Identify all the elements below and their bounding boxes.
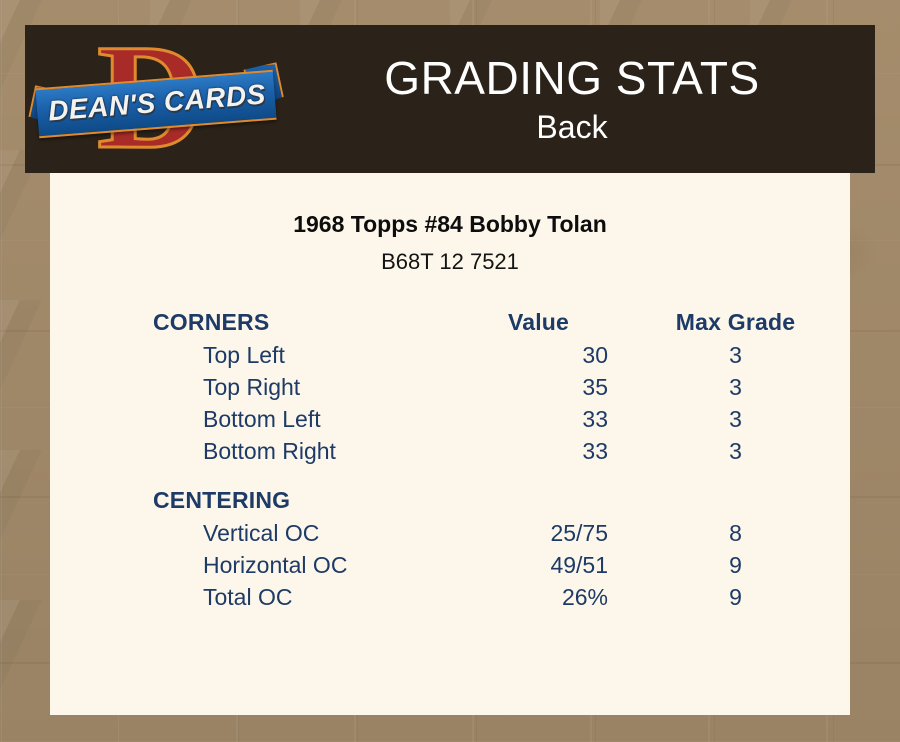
row-value: 30 (450, 339, 635, 371)
table-row: Bottom Left333 (50, 403, 850, 435)
column-header-value (450, 487, 635, 517)
row-value: 25/75 (450, 517, 635, 549)
row-value: 33 (450, 403, 635, 435)
row-max-grade: 9 (635, 581, 850, 613)
row-max-grade: 9 (635, 549, 850, 581)
row-value: 35 (450, 371, 635, 403)
section-header-row: CENTERING (50, 487, 850, 517)
table-row: Total OC26%9 (50, 581, 850, 613)
table-row: Top Right353 (50, 371, 850, 403)
table-spacer-cell (50, 467, 850, 487)
card-title: 1968 Topps #84 Bobby Tolan (50, 211, 850, 238)
row-label: Horizontal OC (50, 549, 450, 581)
row-label: Total OC (50, 581, 450, 613)
page-subtitle: Back (289, 107, 855, 147)
row-max-grade: 3 (635, 403, 850, 435)
deans-cards-logo: D DEAN'S CARDS (25, 25, 289, 173)
row-value: 26% (450, 581, 635, 613)
row-max-grade: 3 (635, 435, 850, 467)
row-label: Top Left (50, 339, 450, 371)
table-row: Horizontal OC49/519 (50, 549, 850, 581)
row-label: Bottom Right (50, 435, 450, 467)
row-max-grade: 3 (635, 371, 850, 403)
section-header-row: CORNERSValueMax Grade (50, 309, 850, 339)
table-row: Vertical OC25/758 (50, 517, 850, 549)
table-row: Bottom Right333 (50, 435, 850, 467)
row-max-grade: 3 (635, 339, 850, 371)
row-label: Vertical OC (50, 517, 450, 549)
content-panel: 1968 Topps #84 Bobby Tolan B68T 12 7521 … (50, 173, 850, 715)
row-value: 49/51 (450, 549, 635, 581)
row-label: Top Right (50, 371, 450, 403)
header-bar: D DEAN'S CARDS GRADING STATS Back (25, 25, 875, 173)
column-header-max-grade: Max Grade (635, 309, 850, 339)
card-serial-number: B68T 12 7521 (50, 249, 850, 275)
table-row: Top Left303 (50, 339, 850, 371)
section-title: CORNERS (50, 309, 450, 339)
section-title: CENTERING (50, 487, 450, 517)
column-header-max-grade (635, 487, 850, 517)
column-header-value: Value (450, 309, 635, 339)
row-value: 33 (450, 435, 635, 467)
header-title-group: GRADING STATS Back (289, 51, 875, 147)
page-title: GRADING STATS (289, 51, 855, 105)
grading-stats-table: CORNERSValueMax GradeTop Left303Top Righ… (50, 309, 850, 613)
row-max-grade: 8 (635, 517, 850, 549)
table-spacer-row (50, 467, 850, 487)
row-label: Bottom Left (50, 403, 450, 435)
